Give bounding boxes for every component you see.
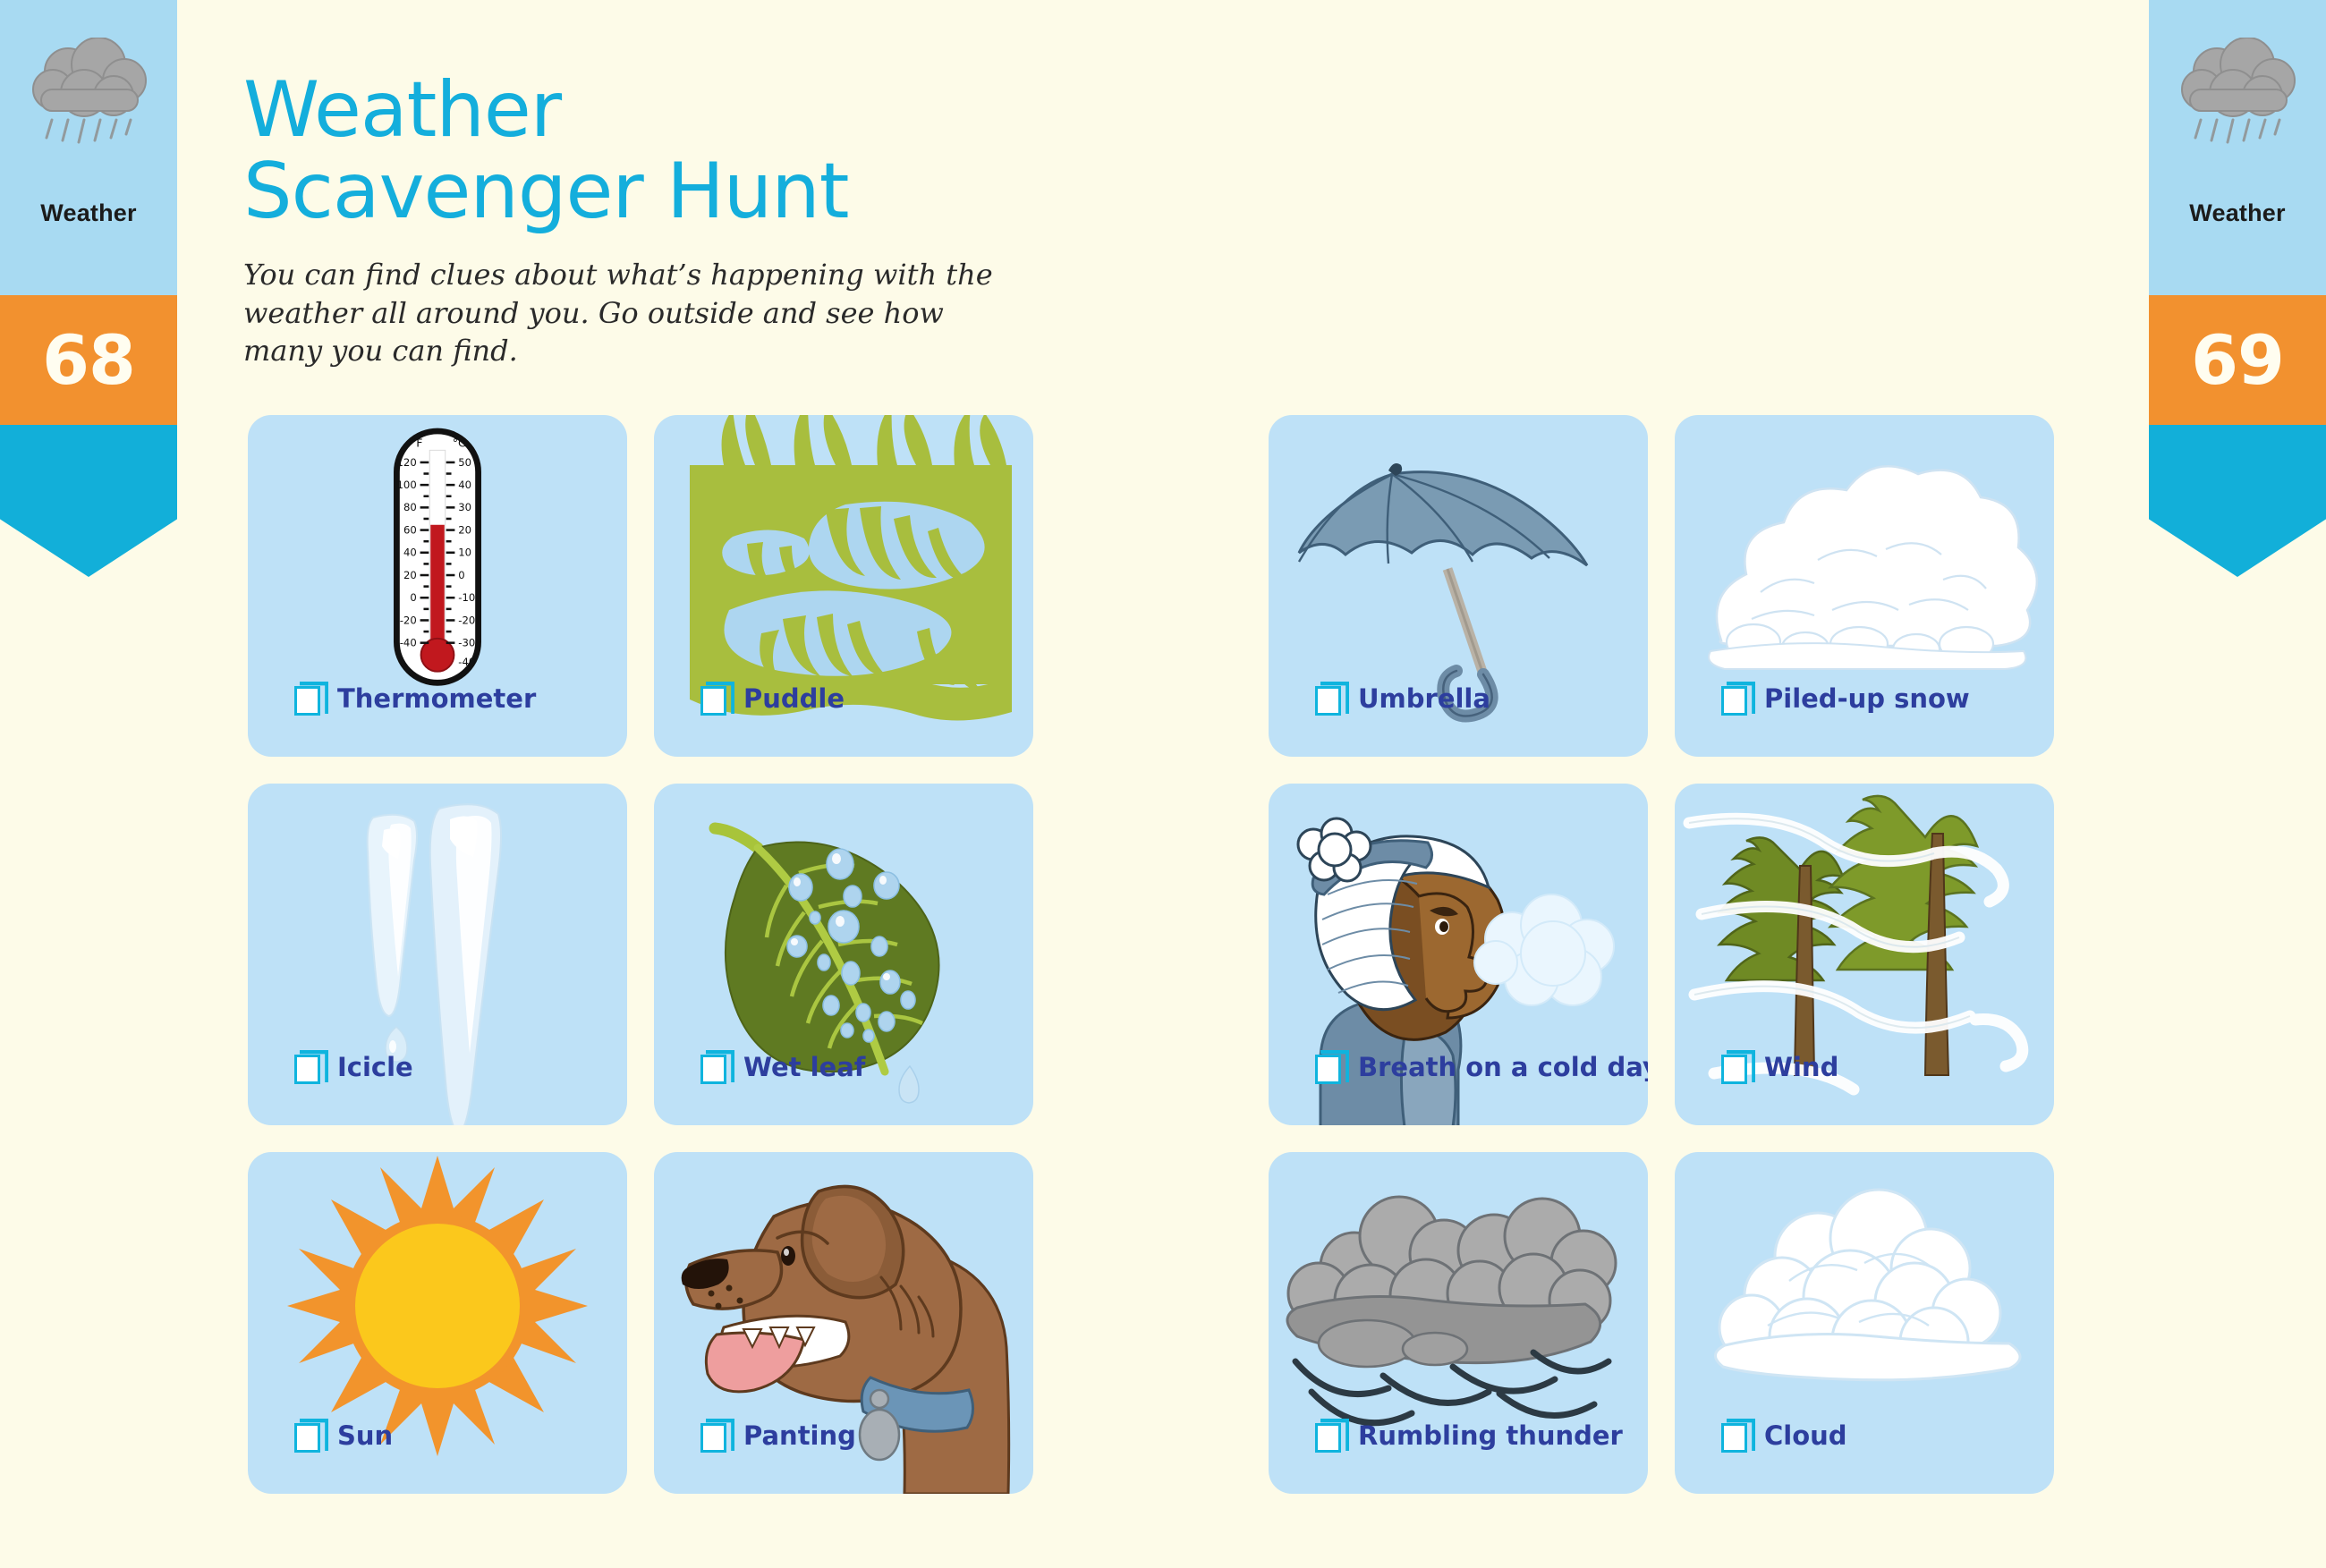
- svg-text:120: 120: [397, 456, 417, 469]
- svg-text:10: 10: [458, 547, 471, 559]
- intro-paragraph: You can find clues about what’s happenin…: [243, 256, 1013, 370]
- left-tab-head: Weather: [0, 0, 177, 295]
- checkbox-icon[interactable]: [1721, 1050, 1752, 1084]
- svg-text:°C: °C: [453, 436, 466, 449]
- checkbox-row[interactable]: Wind: [1721, 1050, 1838, 1084]
- svg-text:-10: -10: [458, 591, 475, 604]
- right-tab-point: [2149, 425, 2326, 577]
- checkbox-row[interactable]: Puddle: [700, 682, 845, 716]
- card-label: Wet leaf: [743, 1052, 865, 1082]
- card-label: Puddle: [743, 683, 845, 714]
- card-puddle[interactable]: Puddle: [654, 415, 1033, 757]
- card-label: Piled-up snow: [1764, 683, 1970, 714]
- page-title-line-2: Scavenger Hunt: [243, 147, 848, 236]
- checkbox-row[interactable]: Sun: [294, 1419, 393, 1453]
- right-tab-label: Weather: [2149, 199, 2326, 227]
- svg-text:-30: -30: [458, 637, 475, 649]
- right-page-number: 69: [2149, 295, 2326, 425]
- checkbox-row[interactable]: Wet leaf: [700, 1050, 865, 1084]
- book-spread: Weather 68: [0, 0, 2326, 1568]
- checkbox-icon[interactable]: [1315, 1050, 1346, 1084]
- checkbox-row[interactable]: Umbrella: [1315, 682, 1490, 716]
- checkbox-icon[interactable]: [1721, 682, 1752, 716]
- checkbox-icon[interactable]: [1315, 1419, 1346, 1453]
- card-thermometer[interactable]: °F °C: [248, 415, 627, 757]
- checkbox-icon[interactable]: [294, 1050, 325, 1084]
- card-piled-up-snow[interactable]: Piled-up snow: [1675, 415, 2054, 757]
- svg-text:-20: -20: [458, 614, 475, 626]
- card-label: Panting: [743, 1420, 856, 1451]
- checkbox-icon[interactable]: [700, 1050, 731, 1084]
- right-tab-head: Weather: [2149, 0, 2326, 295]
- left-page-number: 68: [0, 295, 177, 425]
- svg-text:-20: -20: [400, 614, 417, 626]
- svg-text:20: 20: [403, 569, 417, 581]
- right-page-tab: Weather 69: [2149, 0, 2326, 577]
- svg-text:50: 50: [458, 456, 471, 469]
- card-breath-on-a-cold-day[interactable]: Breath on a cold day: [1269, 784, 1648, 1125]
- checkbox-row[interactable]: Rumbling thunder: [1315, 1419, 1623, 1453]
- left-page-card-grid: °F °C: [248, 415, 1033, 1494]
- left-page-tab: Weather 68: [0, 0, 177, 577]
- card-label: Sun: [337, 1420, 393, 1451]
- svg-text:60: 60: [403, 523, 417, 536]
- card-cloud[interactable]: Cloud: [1675, 1152, 2054, 1494]
- checkbox-icon[interactable]: [294, 1419, 325, 1453]
- left-tab-point: [0, 425, 177, 577]
- checkbox-row[interactable]: Panting: [700, 1419, 856, 1453]
- svg-text:40: 40: [403, 547, 417, 559]
- checkbox-icon[interactable]: [1315, 682, 1346, 716]
- page-title: Weather Scavenger Hunt: [243, 70, 1138, 233]
- svg-text:0: 0: [410, 591, 416, 604]
- page-title-line-1: Weather: [243, 65, 561, 155]
- svg-text:20: 20: [458, 523, 471, 536]
- card-label: Thermometer: [337, 683, 536, 714]
- svg-text:40: 40: [458, 479, 471, 491]
- svg-text:30: 30: [458, 501, 471, 513]
- card-label: Umbrella: [1358, 683, 1490, 714]
- card-label: Cloud: [1764, 1420, 1847, 1451]
- svg-text:0: 0: [458, 569, 464, 581]
- checkbox-row[interactable]: Breath on a cold day: [1315, 1050, 1648, 1084]
- card-label: Wind: [1764, 1052, 1838, 1082]
- card-label: Icicle: [337, 1052, 413, 1082]
- card-icicle[interactable]: Icicle: [248, 784, 627, 1125]
- rain-cloud-icon: [21, 38, 156, 158]
- card-umbrella[interactable]: Umbrella: [1269, 415, 1648, 757]
- right-page-card-grid: Umbrella: [1269, 415, 2054, 1494]
- svg-text:°F: °F: [411, 436, 423, 449]
- checkbox-icon[interactable]: [1721, 1419, 1752, 1453]
- card-panting[interactable]: Panting: [654, 1152, 1033, 1494]
- card-wet-leaf[interactable]: Wet leaf: [654, 784, 1033, 1125]
- svg-text:-40: -40: [458, 656, 475, 668]
- card-label: Rumbling thunder: [1358, 1420, 1623, 1451]
- checkbox-row[interactable]: Piled-up snow: [1721, 682, 1970, 716]
- svg-text:-40: -40: [400, 637, 417, 649]
- checkbox-row[interactable]: Icicle: [294, 1050, 413, 1084]
- svg-text:100: 100: [397, 479, 417, 491]
- rain-cloud-icon: [2170, 38, 2305, 158]
- left-tab-label: Weather: [0, 199, 177, 227]
- card-label: Breath on a cold day: [1358, 1052, 1648, 1082]
- checkbox-icon[interactable]: [700, 682, 731, 716]
- svg-text:80: 80: [403, 501, 417, 513]
- checkbox-row[interactable]: Thermometer: [294, 682, 536, 716]
- card-sun[interactable]: Sun: [248, 1152, 627, 1494]
- card-rumbling-thunder[interactable]: Rumbling thunder: [1269, 1152, 1648, 1494]
- checkbox-icon[interactable]: [294, 682, 325, 716]
- card-wind[interactable]: Wind: [1675, 784, 2054, 1125]
- checkbox-icon[interactable]: [700, 1419, 731, 1453]
- checkbox-row[interactable]: Cloud: [1721, 1419, 1847, 1453]
- page-header: Weather Scavenger Hunt You can find clue…: [243, 70, 1138, 370]
